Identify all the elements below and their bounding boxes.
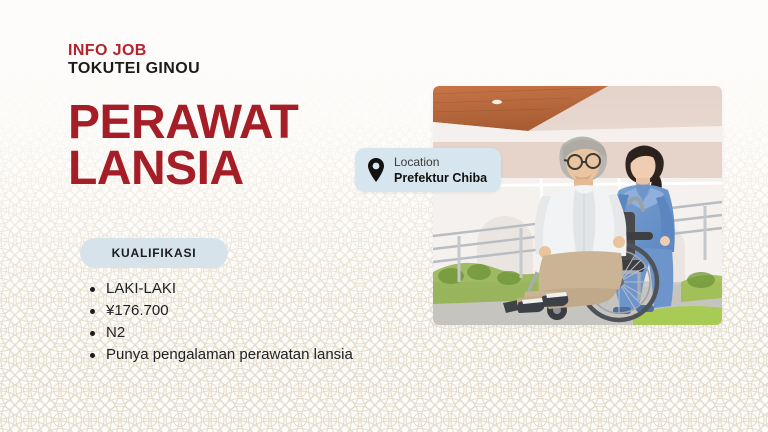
list-item: Punya pengalaman perawatan lansia bbox=[88, 344, 388, 366]
list-item: LAKI-LAKI bbox=[88, 278, 388, 300]
list-item: N2 bbox=[88, 322, 388, 344]
location-label: Location bbox=[394, 155, 487, 170]
photo-illustration bbox=[433, 86, 722, 325]
location-value: Prefektur Chiba bbox=[394, 170, 487, 186]
location-text: Location Prefektur Chiba bbox=[394, 155, 487, 186]
eyebrow-tokutei-ginou: TOKUTEI GINOU bbox=[68, 60, 398, 78]
map-pin-icon bbox=[367, 158, 385, 182]
location-badge: Location Prefektur Chiba bbox=[355, 148, 501, 192]
headline-block: INFO JOB TOKUTEI GINOU PERAWAT LANSIA bbox=[68, 42, 398, 192]
page-title: PERAWAT LANSIA bbox=[68, 100, 398, 192]
list-item: ¥176.700 bbox=[88, 300, 388, 322]
qualification-badge-label: KUALIFIKASI bbox=[112, 246, 197, 260]
poster-canvas: INFO JOB TOKUTEI GINOU PERAWAT LANSIA KU… bbox=[0, 0, 768, 432]
eyebrow-info-job: INFO JOB bbox=[68, 42, 398, 60]
job-photo bbox=[433, 86, 722, 325]
qualification-list: LAKI-LAKI ¥176.700 N2 Punya pengalaman p… bbox=[88, 278, 388, 366]
headline-line-2: LANSIA bbox=[68, 146, 398, 192]
qualification-badge: KUALIFIKASI bbox=[80, 238, 228, 268]
